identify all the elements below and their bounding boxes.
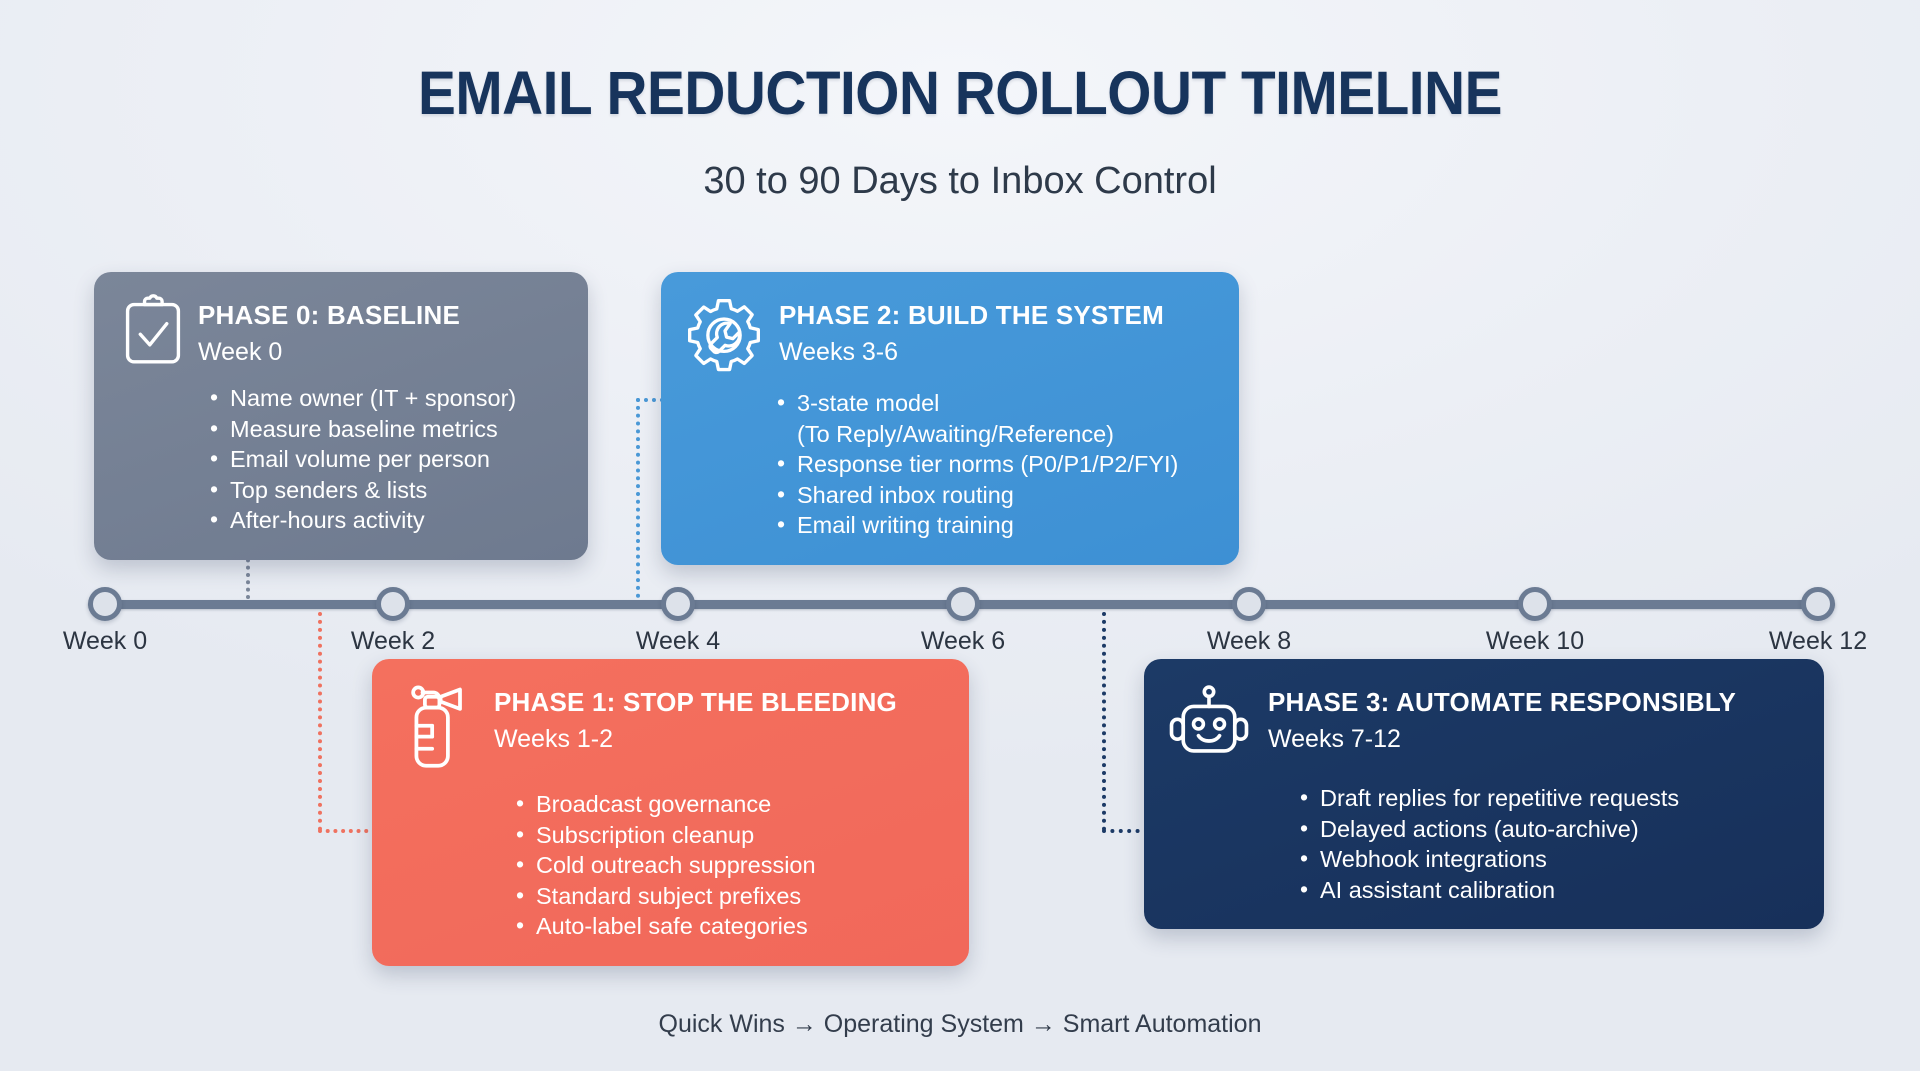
- list-item: Delayed actions (auto-archive): [1298, 814, 1798, 845]
- phase-card-3-list: Draft replies for repetitive requests De…: [1168, 783, 1798, 905]
- list-item: After-hours activity: [208, 505, 562, 536]
- timeline-tick-label-0: Week 0: [5, 627, 205, 656]
- phase-card-2-titles: PHASE 2: BUILD THE SYSTEM Weeks 3-6: [779, 294, 1164, 367]
- phase-card-2-title: PHASE 2: BUILD THE SYSTEM: [779, 300, 1164, 331]
- timeline-tick-3[interactable]: [946, 587, 980, 621]
- connector-phase3-horizontal: [1102, 829, 1148, 833]
- phase-card-0-header: PHASE 0: BASELINE Week 0: [118, 294, 562, 367]
- timeline-tick-label-1: Week 2: [293, 627, 493, 656]
- list-item: Email writing training: [775, 510, 1213, 541]
- phase-card-0[interactable]: PHASE 0: BASELINE Week 0 Name owner (IT …: [94, 272, 588, 560]
- list-item: Top senders & lists: [208, 475, 562, 506]
- list-item: Response tier norms (P0/P1/P2/FYI): [775, 449, 1213, 480]
- timeline-tick-label-2: Week 4: [578, 627, 778, 656]
- phase-card-0-list: Name owner (IT + sponsor) Measure baseli…: [118, 383, 562, 536]
- phase-card-0-weeks: Week 0: [198, 338, 460, 367]
- phase-card-1-title: PHASE 1: STOP THE BLEEDING: [494, 687, 897, 718]
- phase-card-3-titles: PHASE 3: AUTOMATE RESPONSIBLY Weeks 7-12: [1268, 681, 1736, 754]
- timeline-tick-1[interactable]: [376, 587, 410, 621]
- phase-card-2-list: 3-state model (To Reply/Awaiting/Referen…: [685, 388, 1213, 541]
- timeline-tick-label-3: Week 6: [863, 627, 1063, 656]
- page-subtitle: 30 to 90 Days to Inbox Control: [0, 160, 1920, 203]
- phase-card-1-header: PHASE 1: STOP THE BLEEDING Weeks 1-2: [396, 681, 943, 773]
- phase-card-3[interactable]: PHASE 3: AUTOMATE RESPONSIBLY Weeks 7-12…: [1144, 659, 1824, 929]
- list-item: 3-state model (To Reply/Awaiting/Referen…: [775, 388, 1213, 449]
- phase-card-2[interactable]: PHASE 2: BUILD THE SYSTEM Weeks 3-6 3-st…: [661, 272, 1239, 565]
- phase-card-0-titles: PHASE 0: BASELINE Week 0: [198, 294, 460, 367]
- timeline-tick-label-6: Week 12: [1718, 627, 1918, 656]
- timeline-tick-6[interactable]: [1801, 587, 1835, 621]
- list-item: Auto-label safe categories: [514, 911, 943, 942]
- clipboard-check-icon: [118, 294, 188, 366]
- phase-card-3-weeks: Weeks 7-12: [1268, 725, 1736, 754]
- list-item: Broadcast governance: [514, 789, 943, 820]
- list-item: Draft replies for repetitive requests: [1298, 783, 1798, 814]
- list-item: Measure baseline metrics: [208, 414, 562, 445]
- list-item: Standard subject prefixes: [514, 881, 943, 912]
- robot-icon: [1168, 681, 1250, 767]
- phase-card-1-titles: PHASE 1: STOP THE BLEEDING Weeks 1-2: [494, 681, 897, 754]
- list-item: Name owner (IT + sponsor): [208, 383, 562, 414]
- phase-card-2-weeks: Weeks 3-6: [779, 338, 1164, 367]
- timeline-tick-2[interactable]: [661, 587, 695, 621]
- list-item: AI assistant calibration: [1298, 875, 1798, 906]
- phase-card-0-title: PHASE 0: BASELINE: [198, 300, 460, 331]
- phase-card-3-header: PHASE 3: AUTOMATE RESPONSIBLY Weeks 7-12: [1168, 681, 1798, 767]
- infographic-canvas: EMAIL REDUCTION ROLLOUT TIMELINE 30 to 9…: [0, 0, 1920, 1071]
- phase-card-1-list: Broadcast governance Subscription cleanu…: [396, 789, 943, 942]
- connector-phase3-vertical: [1102, 604, 1106, 831]
- footer-summary: Quick Wins → Operating System → Smart Au…: [0, 1010, 1920, 1039]
- timeline-tick-5[interactable]: [1518, 587, 1552, 621]
- timeline-tick-label-4: Week 8: [1149, 627, 1349, 656]
- list-item: Shared inbox routing: [775, 480, 1213, 511]
- timeline-tick-label-5: Week 10: [1435, 627, 1635, 656]
- page-title: EMAIL REDUCTION ROLLOUT TIMELINE: [67, 58, 1853, 128]
- phase-card-2-header: PHASE 2: BUILD THE SYSTEM Weeks 3-6: [685, 294, 1213, 372]
- gear-wrench-icon: [685, 294, 763, 372]
- connector-phase2-horizontal: [636, 398, 664, 402]
- list-item: Cold outreach suppression: [514, 850, 943, 881]
- phase-card-3-title: PHASE 3: AUTOMATE RESPONSIBLY: [1268, 687, 1736, 718]
- timeline-tick-4[interactable]: [1232, 587, 1266, 621]
- connector-phase2-vertical: [636, 398, 640, 598]
- fire-extinguisher-icon: [396, 681, 478, 773]
- list-item: Email volume per person: [208, 444, 562, 475]
- connector-phase1-horizontal: [318, 829, 376, 833]
- phase-card-1-weeks: Weeks 1-2: [494, 725, 897, 754]
- list-item: Subscription cleanup: [514, 820, 943, 851]
- timeline-tick-0[interactable]: [88, 587, 122, 621]
- list-item: Webhook integrations: [1298, 844, 1798, 875]
- phase-card-1[interactable]: PHASE 1: STOP THE BLEEDING Weeks 1-2 Bro…: [372, 659, 969, 966]
